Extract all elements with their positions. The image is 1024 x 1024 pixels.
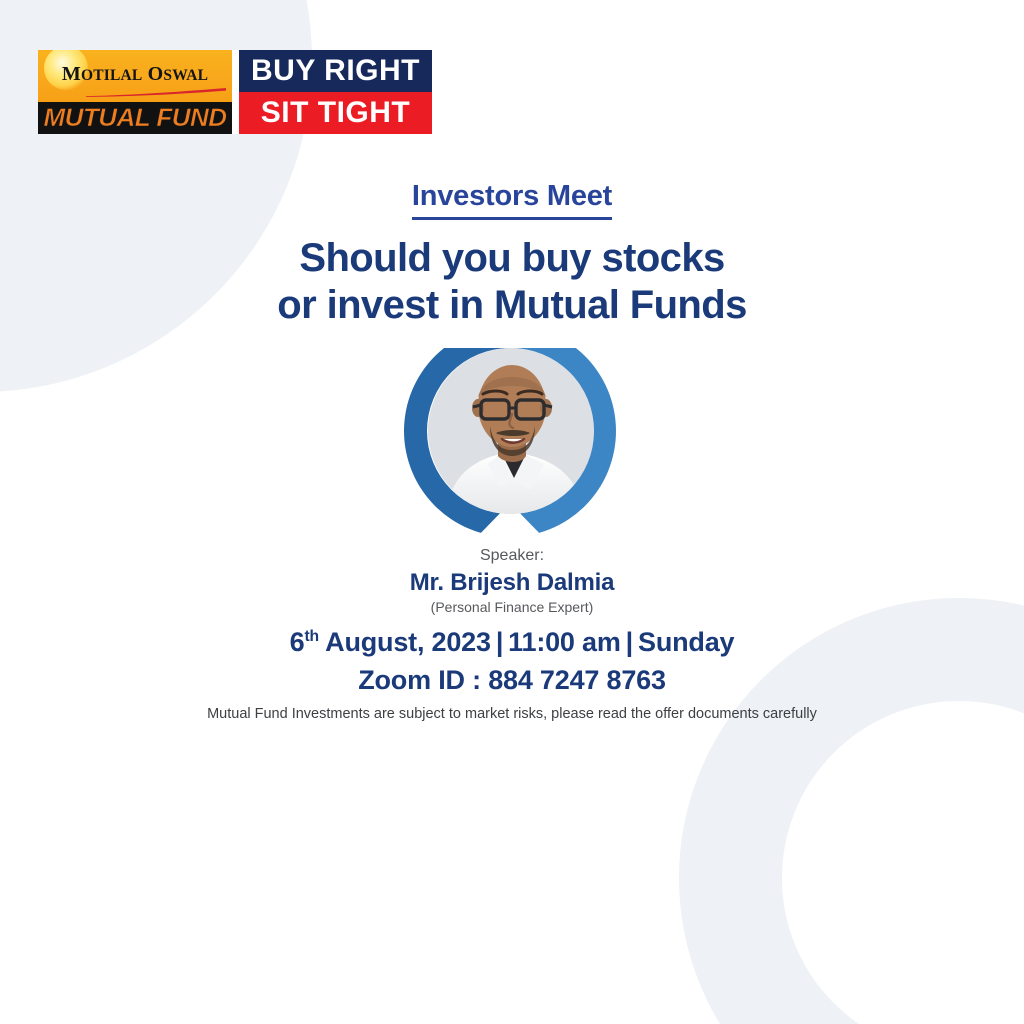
zoom-id-label: Zoom ID : — [358, 665, 488, 695]
logo-tagline-block: BUY RIGHT SIT TIGHT — [239, 50, 432, 134]
zoom-id-value: 884 7247 8763 — [488, 665, 666, 695]
logo-amber-panel: MOTILAL OSWAL — [38, 50, 232, 102]
disclaimer-text: Mutual Fund Investments are subject to m… — [0, 705, 1024, 724]
event-separator-2: | — [621, 627, 638, 657]
event-details-block: 6th August, 2023|11:00 am|Sunday Zoom ID… — [0, 626, 1024, 724]
page-title: Should you buy stocks or invest in Mutua… — [0, 235, 1024, 329]
eyebrow-investors-meet: Investors Meet — [412, 181, 612, 220]
speaker-name: Mr. Brijesh Dalmia — [0, 569, 1024, 597]
logo-brand-name: MOTILAL OSWAL — [62, 64, 208, 84]
event-date-ordinal: th — [304, 628, 318, 645]
speaker-portrait-group — [404, 340, 616, 540]
event-date-rest: August, 2023 — [319, 627, 491, 657]
logo-motilal-oswal-block: MOTILAL OSWAL MUTUAL FUND — [38, 50, 232, 134]
logo-tagline-buy-right: BUY RIGHT — [251, 56, 420, 86]
title-line-2: or invest in Mutual Funds — [0, 282, 1024, 329]
speaker-portrait-illustration — [428, 348, 594, 514]
speaker-role: (Personal Finance Expert) — [0, 599, 1024, 616]
logo-tagline-navy-band: BUY RIGHT — [239, 50, 432, 92]
event-weekday: Sunday — [638, 627, 734, 657]
event-date-day: 6 — [290, 627, 305, 657]
headline-block: Investors Meet Should you buy stocks or … — [0, 181, 1024, 329]
title-line-1: Should you buy stocks — [0, 235, 1024, 282]
zoom-id-line: Zoom ID : 884 7247 8763 — [0, 664, 1024, 696]
logo-mutual-fund-text: MUTUAL FUND — [43, 106, 226, 131]
logo-black-panel: MUTUAL FUND — [38, 102, 232, 134]
speaker-label: Speaker: — [0, 546, 1024, 566]
red-swoosh-icon — [86, 88, 226, 97]
logo-tagline-red-band: SIT TIGHT — [239, 92, 432, 134]
event-separator-1: | — [491, 627, 508, 657]
event-datetime-line: 6th August, 2023|11:00 am|Sunday — [0, 626, 1024, 658]
brand-logo: MOTILAL OSWAL MUTUAL FUND BUY RIGHT SIT … — [38, 50, 432, 134]
poster-canvas: MOTILAL OSWAL MUTUAL FUND BUY RIGHT SIT … — [0, 0, 1024, 1024]
avatar — [428, 348, 594, 514]
logo-divider — [232, 50, 239, 134]
logo-tagline-sit-tight: SIT TIGHT — [261, 98, 411, 128]
event-time: 11:00 am — [508, 627, 621, 657]
speaker-credit-block: Speaker: Mr. Brijesh Dalmia (Personal Fi… — [0, 546, 1024, 615]
